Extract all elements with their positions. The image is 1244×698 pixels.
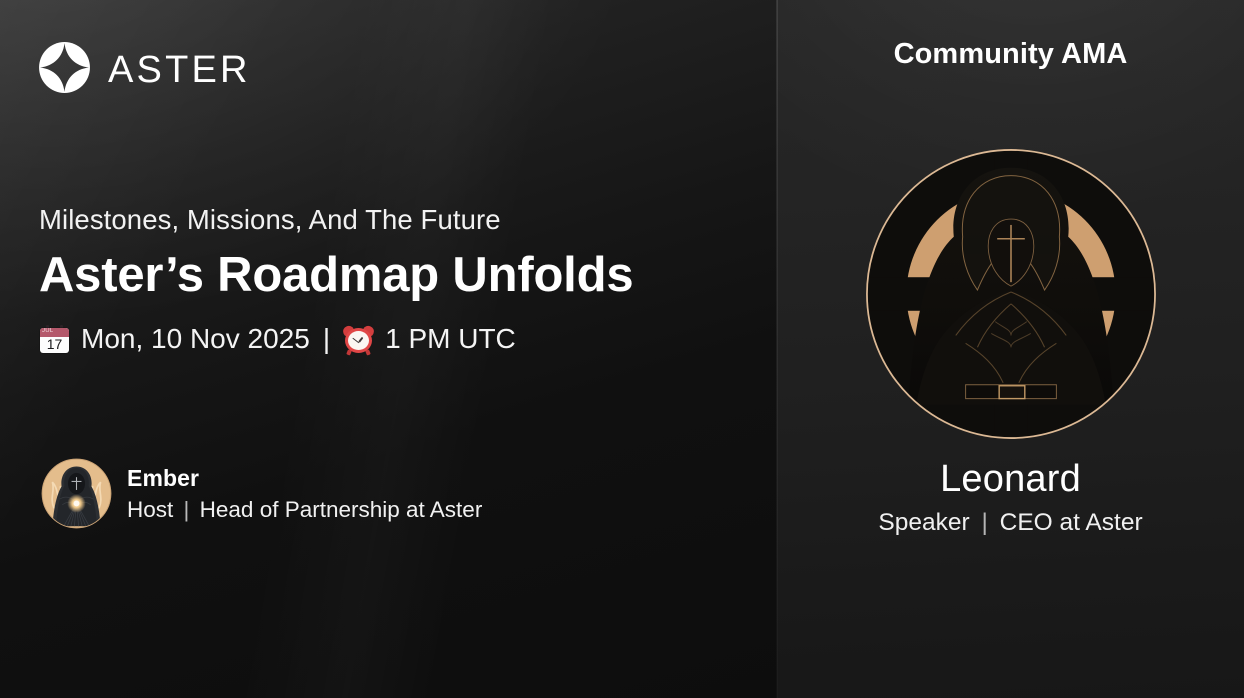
hero-eyebrow: Milestones, Missions, And The Future	[39, 203, 739, 236]
calendar-day-label: 17	[40, 336, 69, 353]
aster-four-point-star-logo-icon	[38, 41, 91, 99]
brand-lockup: ASTER	[38, 41, 251, 99]
host-role-prefix: Host	[127, 497, 173, 522]
host-text: Ember Host | Head of Partnership at Aste…	[127, 466, 482, 522]
event-time: 1 PM UTC	[385, 325, 516, 353]
right-panel: Community AMA	[777, 0, 1244, 698]
host-role-separator: |	[180, 497, 194, 522]
speaker-role: Speaker | CEO at Aster	[777, 509, 1244, 537]
ama-announcement-banner: ASTER Milestones, Missions, And The Futu…	[0, 0, 1244, 698]
event-date: Mon, 10 Nov 2025	[81, 325, 310, 353]
host-row: Ember Host | Head of Partnership at Aste…	[41, 458, 482, 529]
alarm-clock-emoji-icon	[343, 324, 374, 355]
speaker-name: Leonard	[777, 458, 1244, 501]
hero-copy: Milestones, Missions, And The Future Ast…	[39, 203, 739, 355]
brand-name: ASTER	[108, 51, 251, 89]
speaker-role-title: CEO at Aster	[1000, 509, 1143, 536]
event-datetime: JUL 17 Mon, 10 Nov 2025 | 1 PM UTC	[39, 324, 739, 355]
panel-divider	[776, 0, 778, 698]
calendar-emoji-icon: JUL 17	[39, 324, 70, 355]
datetime-separator: |	[321, 325, 332, 353]
page-title: Aster’s Roadmap Unfolds	[39, 248, 739, 303]
host-role: Host | Head of Partnership at Aster	[127, 498, 482, 522]
ember-hooded-figure-avatar-icon	[41, 458, 112, 529]
left-panel: ASTER Milestones, Missions, And The Futu…	[0, 0, 777, 698]
leonard-hooded-figure-avatar-icon	[863, 146, 1159, 442]
speaker-role-prefix: Speaker	[878, 509, 969, 536]
host-name: Ember	[127, 466, 482, 490]
host-role-title: Head of Partnership at Aster	[200, 497, 483, 522]
section-heading: Community AMA	[777, 38, 1244, 71]
speaker-role-separator: |	[976, 509, 992, 536]
